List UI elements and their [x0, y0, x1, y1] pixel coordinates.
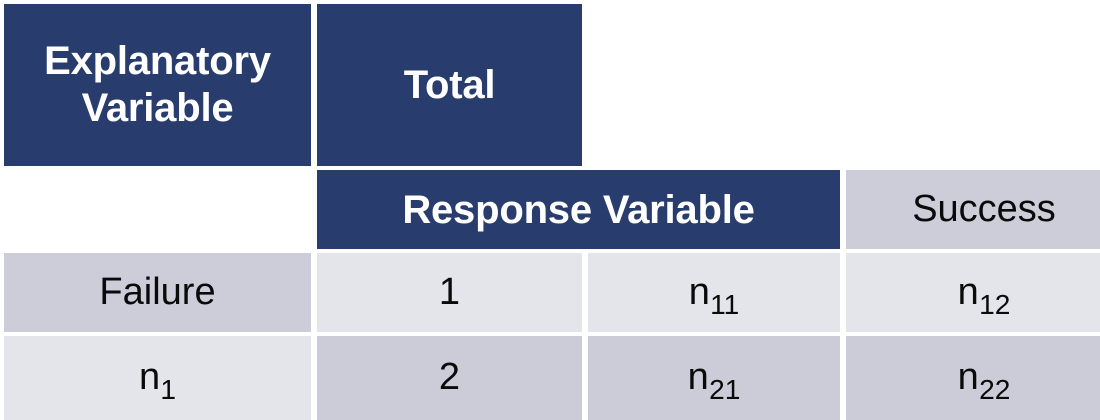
row-2-label: 2: [439, 358, 460, 398]
table-row: 2: [317, 336, 582, 420]
cell-n11-base: n: [689, 271, 710, 313]
cell-n22: n22: [958, 358, 1011, 398]
cell-n12: n12: [958, 273, 1011, 313]
subheader-failure: Failure: [4, 253, 311, 332]
header-response-variable: Response Variable: [317, 170, 840, 249]
table-row: n11: [588, 253, 840, 332]
table-row: n21: [588, 336, 840, 420]
row-1-label: 1: [439, 273, 460, 313]
cell-n11: n11: [689, 273, 740, 313]
cell-n22-base: n: [958, 356, 979, 398]
subheader-success: Success: [846, 170, 1100, 249]
header-total-label: Total: [404, 64, 496, 106]
cell-n12-subscript: 12: [979, 289, 1010, 320]
header-explanatory-line1: Explanatory: [44, 38, 271, 85]
cell-n22-subscript: 22: [979, 374, 1010, 405]
table-row: 1: [317, 253, 582, 332]
contingency-table: Explanatory Variable Response Variable T…: [0, 0, 1100, 400]
subheader-failure-label: Failure: [99, 273, 215, 313]
header-explanatory-line2: Variable: [82, 85, 234, 132]
cell-n1-subscript: 1: [160, 374, 176, 405]
cell-n1: n1: [139, 358, 176, 398]
cell-n21-subscript: 21: [709, 374, 740, 405]
table-row: n1: [4, 336, 311, 420]
header-total: Total: [317, 4, 582, 166]
cell-n21-base: n: [688, 356, 709, 398]
cell-n12-base: n: [958, 271, 979, 313]
cell-n11-subscript: 11: [710, 289, 739, 320]
table-row: n22: [846, 336, 1100, 420]
subheader-success-label: Success: [912, 190, 1056, 230]
header-explanatory-variable: Explanatory Variable: [4, 4, 311, 166]
cell-n1-base: n: [139, 356, 160, 398]
table-row: n12: [846, 253, 1100, 332]
cell-n21: n21: [688, 358, 741, 398]
header-response-variable-label: Response Variable: [402, 189, 754, 231]
